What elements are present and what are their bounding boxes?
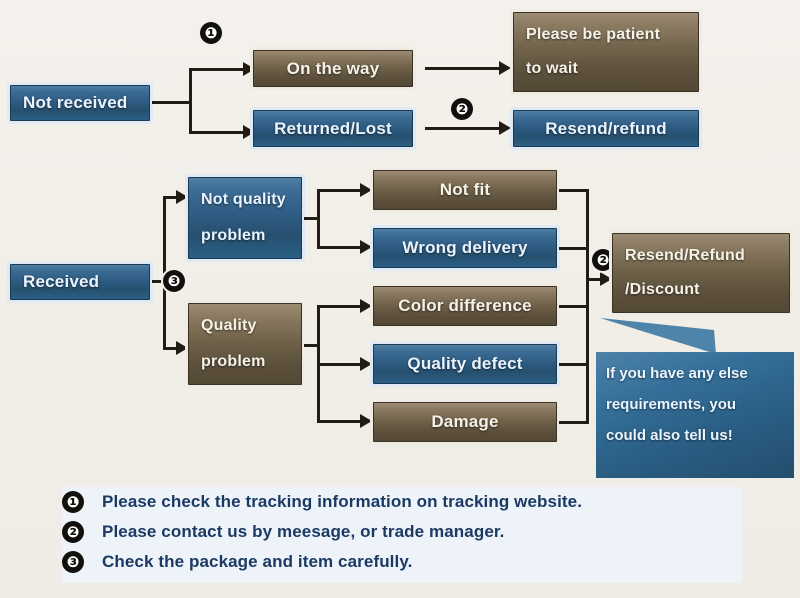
node-quality-problem-line2: problem <box>201 344 301 380</box>
node-quality-defect-label: Quality defect <box>407 354 522 374</box>
bubble-line2: requirements, you <box>606 389 786 420</box>
bubble-line3: could also tell us! <box>606 420 786 451</box>
node-received-label: Received <box>23 272 149 292</box>
node-quality-defect[interactable]: Quality defect <box>373 344 557 384</box>
node-please-be-patient-line2: to wait <box>526 52 698 86</box>
legend-text-1: Please check the tracking information on… <box>102 492 582 512</box>
arrowhead-to-colordiff <box>360 299 372 313</box>
connector-notreceived-to-ontheway <box>189 68 247 71</box>
node-quality-problem-line1: Quality <box>201 308 301 344</box>
legend-number-3: ❸ <box>62 551 84 573</box>
node-damage[interactable]: Damage <box>373 402 557 442</box>
legend-item: ❸ Check the package and item carefully. <box>62 547 742 577</box>
node-wrong-delivery[interactable]: Wrong delivery <box>373 228 557 268</box>
node-on-the-way-label: On the way <box>287 59 380 79</box>
flowchart-canvas: Not received ❶ On the way Returned/Lost … <box>0 0 800 598</box>
node-on-the-way[interactable]: On the way <box>253 50 413 87</box>
node-received[interactable]: Received <box>10 264 150 300</box>
connector-notquality-split <box>317 189 320 249</box>
arrowhead-to-damage <box>360 414 372 428</box>
connector-returned-to-resend <box>425 127 503 130</box>
node-not-received[interactable]: Not received <box>10 85 150 121</box>
node-damage-label: Damage <box>431 412 498 432</box>
connector-colordiff-out <box>559 305 589 308</box>
node-resend-refund-discount[interactable]: Resend/Refund /Discount <box>612 233 790 313</box>
connector-reasons-collector <box>586 189 589 424</box>
connector-damage-out <box>559 421 589 424</box>
node-color-difference[interactable]: Color difference <box>373 286 557 326</box>
arrowhead-to-quality <box>176 341 188 355</box>
connector-notreceived-stem <box>152 101 192 104</box>
arrowhead-to-resenddiscount <box>600 272 612 286</box>
node-not-fit[interactable]: Not fit <box>373 170 557 210</box>
marker-two-top: ❷ <box>451 98 473 120</box>
connector-notreceived-to-returned <box>189 131 247 134</box>
legend-number-1: ❶ <box>62 491 84 513</box>
arrowhead-to-resend <box>499 121 511 135</box>
node-not-received-label: Not received <box>23 93 149 113</box>
arrowhead-to-wrongdelivery <box>360 240 372 254</box>
node-resend-refund-discount-line2: /Discount <box>625 273 789 307</box>
node-please-be-patient-line1: Please be patient <box>526 18 698 52</box>
arrowhead-to-notquality <box>176 190 188 204</box>
marker-two-bottom: ❷ <box>592 249 614 271</box>
connector-qualitydefect-out <box>559 363 589 366</box>
connector-notfit-out <box>559 189 589 192</box>
node-please-be-patient[interactable]: Please be patient to wait <box>513 12 699 92</box>
node-returned-lost[interactable]: Returned/Lost <box>253 110 413 147</box>
connector-wrongdelivery-out <box>559 247 589 250</box>
arrowhead-to-qualitydefect <box>360 357 372 371</box>
legend-number-2: ❷ <box>62 521 84 543</box>
speech-bubble-tail <box>598 316 716 356</box>
node-wrong-delivery-label: Wrong delivery <box>402 238 527 258</box>
node-resend-refund[interactable]: Resend/refund <box>513 110 699 147</box>
node-resend-refund-label: Resend/refund <box>545 119 667 139</box>
legend-item: ❷ Please contact us by meesage, or trade… <box>62 517 742 547</box>
legend-text-2: Please contact us by meesage, or trade m… <box>102 522 505 542</box>
legend: ❶ Please check the tracking information … <box>62 487 742 583</box>
arrowhead-to-notfit <box>360 183 372 197</box>
node-not-fit-label: Not fit <box>440 180 491 200</box>
node-color-difference-label: Color difference <box>398 296 532 316</box>
node-resend-refund-discount-line1: Resend/Refund <box>625 239 789 273</box>
arrowhead-to-patient <box>499 61 511 75</box>
legend-item: ❶ Please check the tracking information … <box>62 487 742 517</box>
node-not-quality-problem-line1: Not quality <box>201 182 301 218</box>
marker-one-top: ❶ <box>200 22 222 44</box>
speech-bubble: If you have any else requirements, you c… <box>596 352 794 478</box>
node-quality-problem[interactable]: Quality problem <box>188 303 302 385</box>
legend-text-3: Check the package and item carefully. <box>102 552 412 572</box>
node-returned-lost-label: Returned/Lost <box>274 119 392 139</box>
bubble-line1: If you have any else <box>606 358 786 389</box>
marker-three-received: ❸ <box>163 270 185 292</box>
connector-ontheway-to-patient <box>425 67 503 70</box>
node-not-quality-problem-line2: problem <box>201 218 301 254</box>
connector-notreceived-split <box>189 68 192 134</box>
node-not-quality-problem[interactable]: Not quality problem <box>188 177 302 259</box>
